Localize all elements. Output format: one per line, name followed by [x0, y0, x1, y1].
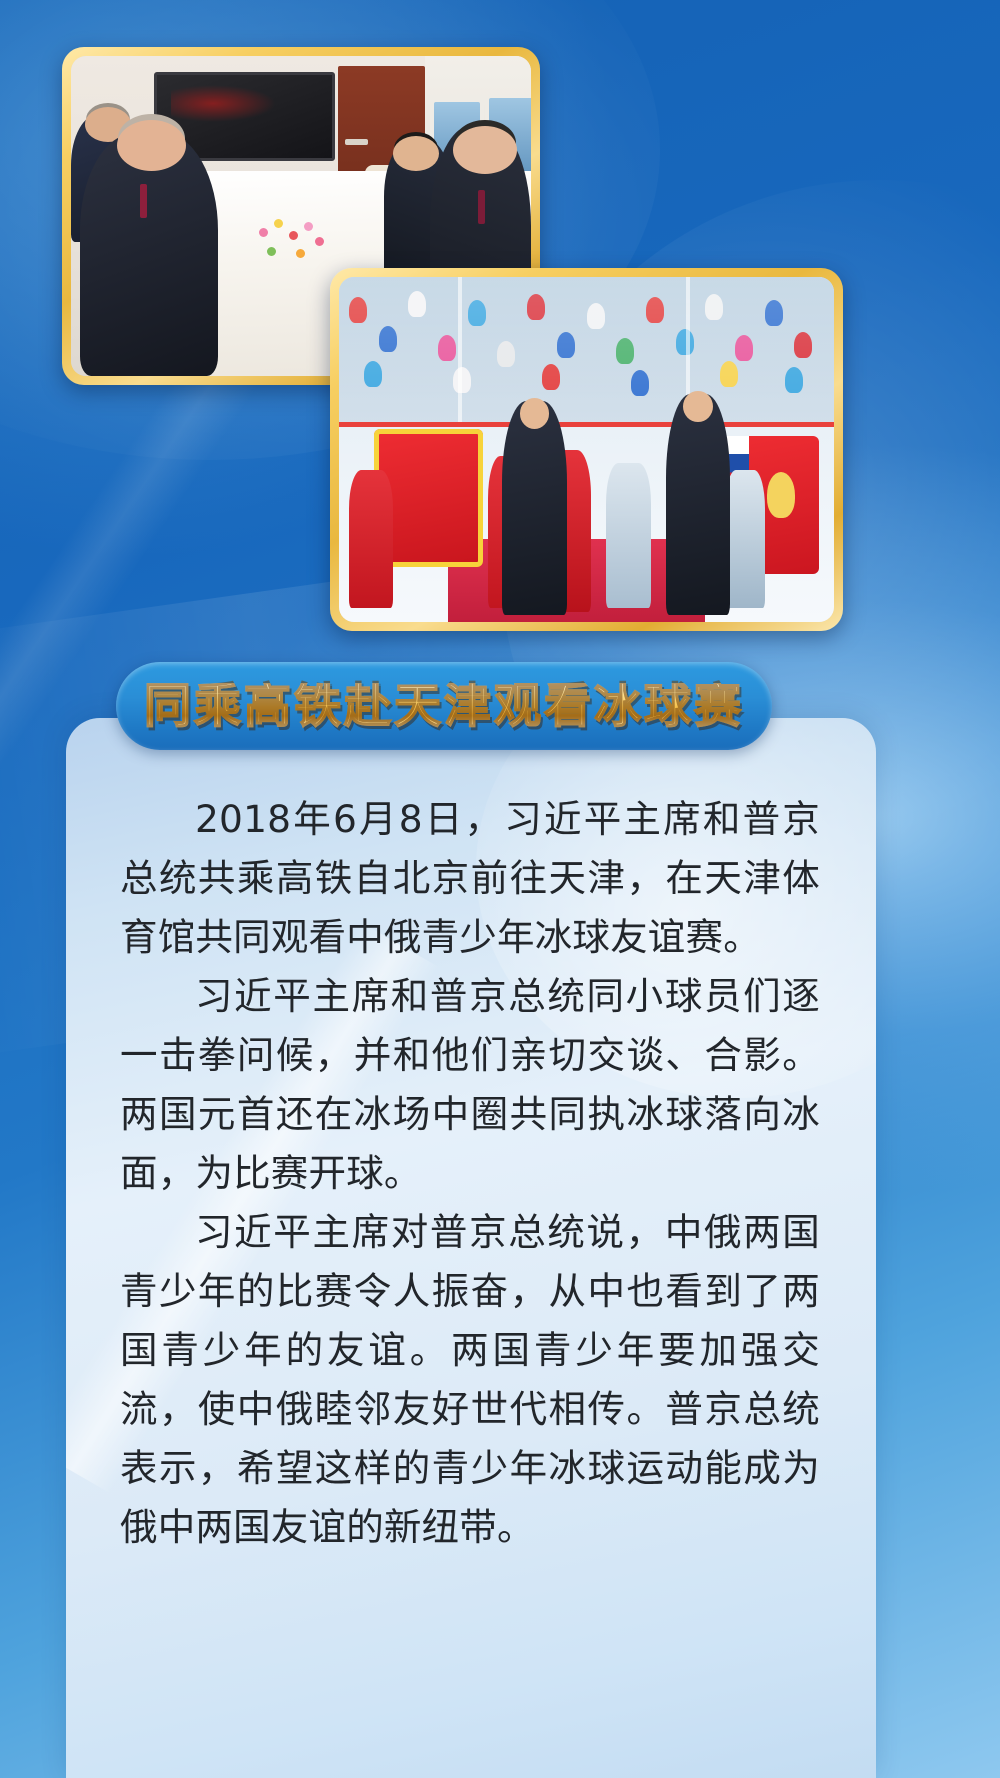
xi-tie	[478, 190, 485, 224]
photo-rink-image	[339, 277, 834, 622]
article-body: 2018年6月8日，习近平主席和普京总统共乘高铁自北京前往天津，在天津体育馆共同…	[120, 790, 820, 1557]
title-banner: 同乘高铁赴天津观看冰球赛	[116, 662, 772, 750]
poster-root: 同乘高铁赴天津观看冰球赛 2018年6月8日，习近平主席和普京总统共乘高铁自北京…	[0, 0, 1000, 1778]
rink-glass-boards	[339, 277, 834, 427]
putin-figure	[502, 401, 566, 615]
young-player	[725, 470, 765, 608]
table-flowers	[255, 216, 329, 274]
xi-head	[683, 391, 713, 422]
young-player	[606, 463, 651, 608]
interpreter-head	[393, 136, 439, 171]
xi-figure	[666, 394, 730, 615]
russia-crest-icon	[767, 472, 795, 519]
putin-tie	[140, 184, 147, 218]
young-player	[349, 470, 394, 608]
paragraph: 习近平主席对普京总统说，中俄两国青少年的比赛令人振奋，从中也看到了两国青少年的友…	[120, 1203, 820, 1557]
putin-head	[520, 398, 550, 429]
photo-hockey-rink	[330, 268, 843, 631]
putin-head	[117, 120, 186, 171]
paragraph: 习近平主席和普京总统同小球员们逐一击拳问候，并和他们亲切交谈、合影。两国元首还在…	[120, 967, 820, 1203]
page-title: 同乘高铁赴天津观看冰球赛	[144, 683, 744, 730]
paragraph: 2018年6月8日，习近平主席和普京总统共乘高铁自北京前往天津，在天津体育馆共同…	[120, 790, 820, 967]
